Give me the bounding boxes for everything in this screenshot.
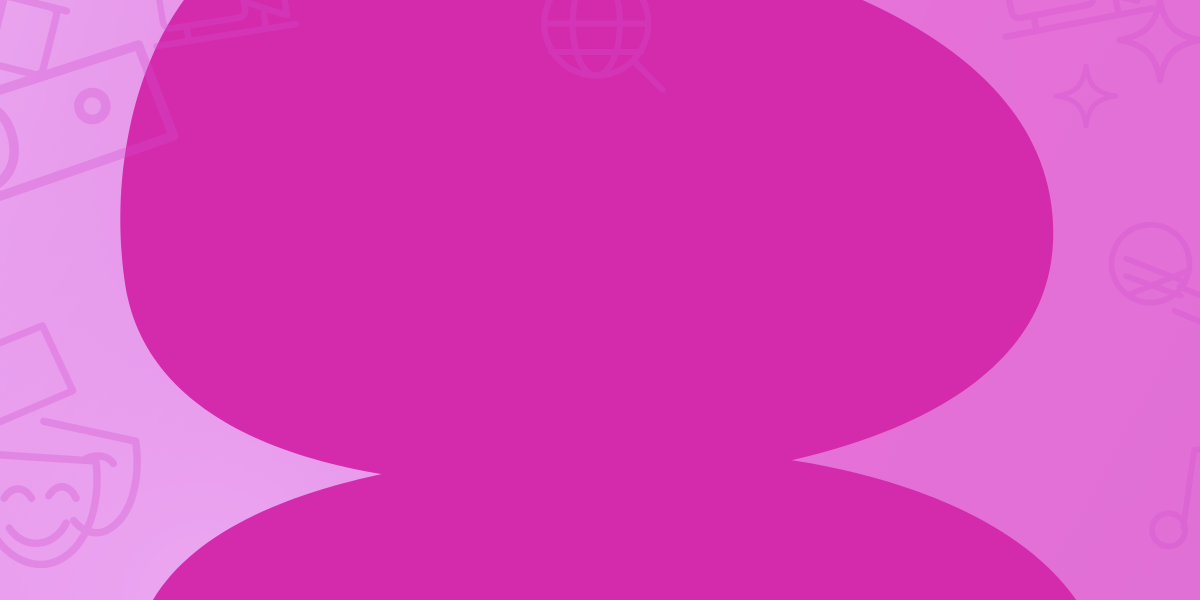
event-card: Fall Protection Training – 4 Hours Sun, … [0,0,1200,600]
event-banner-page: Fall Protection Training – 4 Hours Sun, … [0,0,1200,600]
brand-monogram-watermark [0,0,1200,600]
